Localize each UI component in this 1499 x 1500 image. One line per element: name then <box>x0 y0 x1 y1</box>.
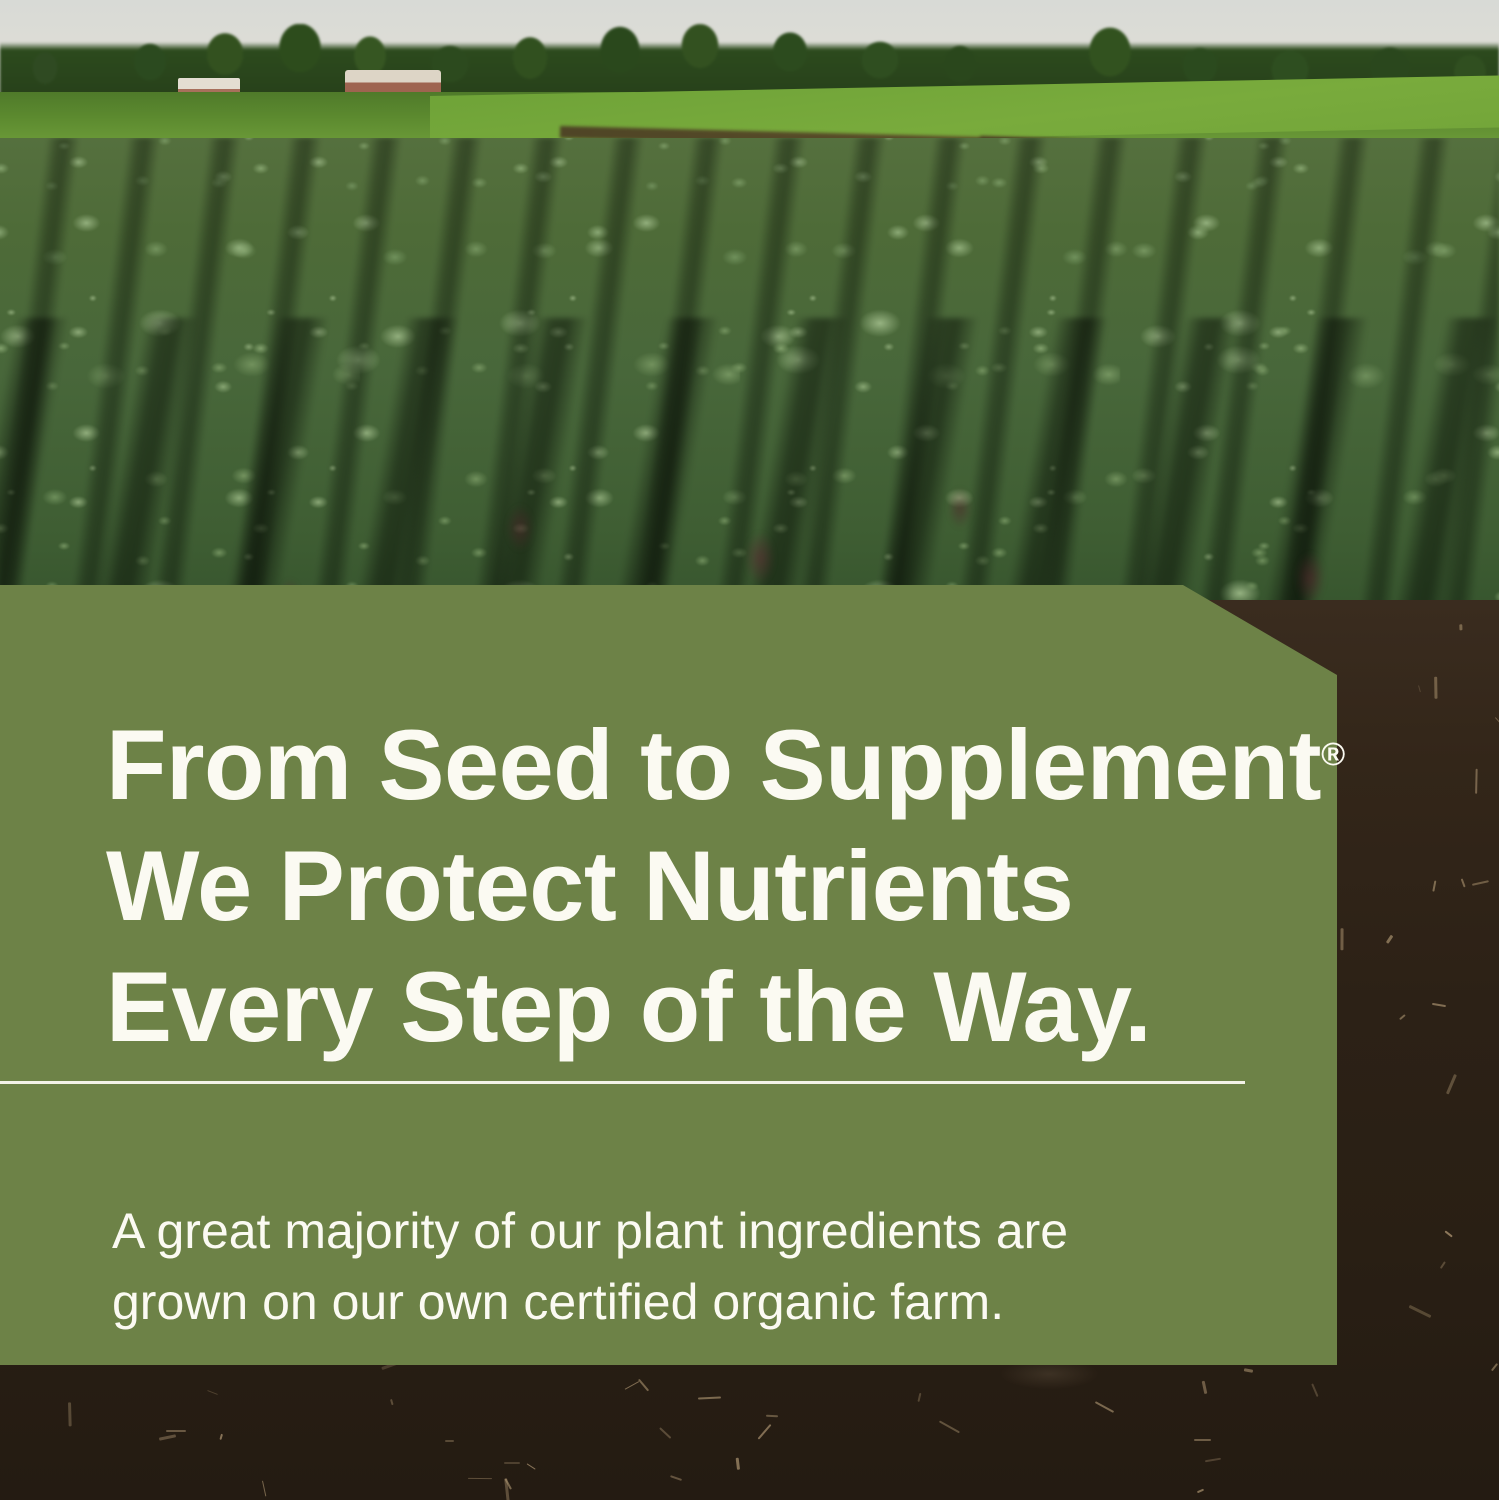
headline-line-3: Every Step of the Way. <box>106 946 1326 1067</box>
subtext-line-2: grown on our own certified organic farm. <box>112 1267 1302 1338</box>
headline-line-1-text: From Seed to Supplement <box>106 709 1321 820</box>
promo-graphic: From Seed to Supplement® We Protect Nutr… <box>0 0 1499 1500</box>
subtitle-text: A great majority of our plant ingredient… <box>112 1196 1302 1338</box>
horizontal-divider <box>0 1081 1245 1084</box>
headline-line-2: We Protect Nutrients <box>106 825 1326 946</box>
registered-trademark-icon: ® <box>1321 735 1345 772</box>
subtext-line-1: A great majority of our plant ingredient… <box>112 1196 1302 1267</box>
kale-crop-field <box>0 138 1499 658</box>
headline-line-1: From Seed to Supplement® <box>106 704 1326 825</box>
page-title: From Seed to Supplement® We Protect Nutr… <box>106 704 1326 1067</box>
